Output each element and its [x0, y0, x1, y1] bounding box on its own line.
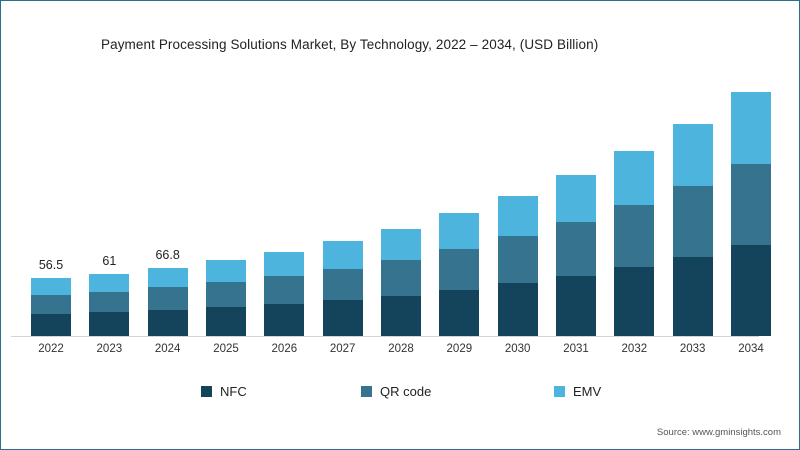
legend-item[interactable]: QR code	[361, 384, 431, 399]
bar-segment[interactable]	[89, 274, 129, 292]
legend-label: QR code	[380, 384, 431, 399]
bar-segment[interactable]	[731, 245, 771, 336]
bar-group[interactable]	[148, 268, 188, 336]
bar-segment[interactable]	[31, 314, 71, 336]
bar-group[interactable]	[439, 213, 479, 336]
legend-swatch-icon	[554, 386, 565, 397]
x-axis-tick-label: 2025	[196, 343, 256, 355]
bar-segment[interactable]	[31, 295, 71, 314]
bar-segment[interactable]	[264, 304, 304, 336]
bar-group[interactable]	[89, 274, 129, 336]
bar-segment[interactable]	[498, 196, 538, 237]
bar-segment[interactable]	[31, 278, 71, 294]
bar-segment[interactable]	[673, 124, 713, 186]
x-axis-tick-label: 2022	[21, 343, 81, 355]
x-axis-tick-label: 2033	[663, 343, 723, 355]
bar-segment[interactable]	[264, 252, 304, 277]
bar-segment[interactable]	[264, 276, 304, 304]
x-axis-tick-label: 2023	[79, 343, 139, 355]
bar-segment[interactable]	[381, 260, 421, 296]
bar-segment[interactable]	[381, 229, 421, 260]
bar-value-label: 66.8	[128, 248, 208, 262]
bar-group[interactable]	[673, 124, 713, 336]
bar-group[interactable]	[614, 151, 654, 336]
bar-group[interactable]	[556, 175, 596, 336]
bar-segment[interactable]	[439, 290, 479, 336]
bar-segment[interactable]	[556, 175, 596, 222]
x-axis-tick-label: 2034	[721, 343, 781, 355]
bar-segment[interactable]	[614, 267, 654, 336]
legend-item[interactable]: NFC	[201, 384, 247, 399]
x-axis-tick-label: 2029	[429, 343, 489, 355]
bar-segment[interactable]	[614, 151, 654, 205]
bar-segment[interactable]	[89, 312, 129, 336]
bar-segment[interactable]	[731, 164, 771, 245]
bar-segment[interactable]	[556, 222, 596, 276]
plot-area	[31, 101, 771, 336]
page-title: Payment Processing Solutions Market, By …	[101, 37, 598, 52]
bar-segment[interactable]	[439, 249, 479, 290]
bar-group[interactable]	[31, 278, 71, 336]
source-note: Source: www.gminsights.com	[657, 427, 781, 438]
bar-segment[interactable]	[673, 186, 713, 257]
bar-segment[interactable]	[148, 310, 188, 336]
bar-segment[interactable]	[323, 241, 363, 269]
x-axis-tick-label: 2027	[313, 343, 373, 355]
bar-group[interactable]	[264, 252, 304, 336]
bar-group[interactable]	[498, 196, 538, 336]
bar-segment[interactable]	[206, 282, 246, 307]
bar-segment[interactable]	[498, 236, 538, 283]
legend-swatch-icon	[361, 386, 372, 397]
bar-group[interactable]	[206, 260, 246, 336]
bar-segment[interactable]	[323, 269, 363, 301]
x-axis-tick-label: 2028	[371, 343, 431, 355]
bar-segment[interactable]	[206, 260, 246, 282]
bar-group[interactable]	[731, 92, 771, 336]
bar-segment[interactable]	[206, 307, 246, 336]
x-axis-tick-label: 2032	[604, 343, 664, 355]
legend-label: EMV	[573, 384, 601, 399]
x-axis-tick-label: 2024	[138, 343, 198, 355]
bar-segment[interactable]	[381, 296, 421, 336]
chart-legend: NFCQR codeEMV	[1, 384, 800, 406]
bar-segment[interactable]	[89, 292, 129, 312]
chart-frame: Payment Processing Solutions Market, By …	[0, 0, 800, 450]
legend-item[interactable]: EMV	[554, 384, 601, 399]
bar-segment[interactable]	[556, 276, 596, 336]
bar-segment[interactable]	[673, 257, 713, 336]
axis-baseline	[11, 336, 759, 337]
legend-label: NFC	[220, 384, 247, 399]
x-axis-tick-label: 2031	[546, 343, 606, 355]
x-axis-tick-label: 2026	[254, 343, 314, 355]
bar-segment[interactable]	[439, 213, 479, 249]
bar-segment[interactable]	[148, 268, 188, 288]
bar-segment[interactable]	[614, 205, 654, 267]
bar-segment[interactable]	[323, 300, 363, 336]
bar-group[interactable]	[323, 241, 363, 336]
legend-swatch-icon	[201, 386, 212, 397]
x-axis-tick-label: 2030	[488, 343, 548, 355]
bar-segment[interactable]	[148, 287, 188, 309]
bar-group[interactable]	[381, 229, 421, 336]
bar-segment[interactable]	[731, 92, 771, 164]
bar-segment[interactable]	[498, 283, 538, 336]
